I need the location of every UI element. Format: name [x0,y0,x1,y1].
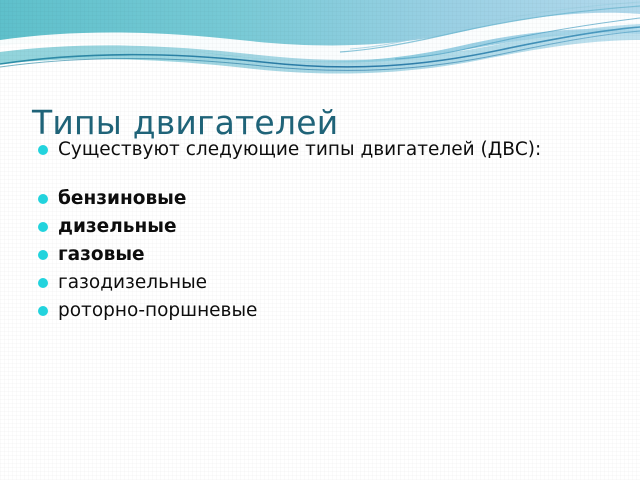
list-item: бензиновые [33,187,613,210]
list-item: газодизельные [33,271,613,294]
bullet-dot-icon [38,306,48,316]
list-item-label: роторно-поршневые [58,299,613,322]
bullet-dot-icon [38,194,48,204]
list-item-label: бензиновые [58,187,613,210]
wave-graphic [0,0,640,76]
presentation-slide: Типы двигателей Существуют следующие тип… [0,0,640,480]
list-item-label: дизельные [58,215,613,238]
bullet-list: Существуют следующие типы двигателей (ДВ… [33,138,613,327]
bullet-dot-icon [38,250,48,260]
list-item: Существуют следующие типы двигателей (ДВ… [33,138,613,161]
list-item-label: газодизельные [58,271,613,294]
list-item-label: Существуют следующие типы двигателей (ДВ… [58,138,613,161]
page-title: Типы двигателей [32,104,612,142]
list-item-label: газовые [58,243,613,266]
bullet-dot-icon [38,222,48,232]
list-item: газовые [33,243,613,266]
list-item: роторно-поршневые [33,299,613,322]
bullet-dot-icon [38,145,48,155]
list-item: дизельные [33,215,613,238]
header-wave-decoration [0,0,640,76]
bullet-dot-icon [38,278,48,288]
